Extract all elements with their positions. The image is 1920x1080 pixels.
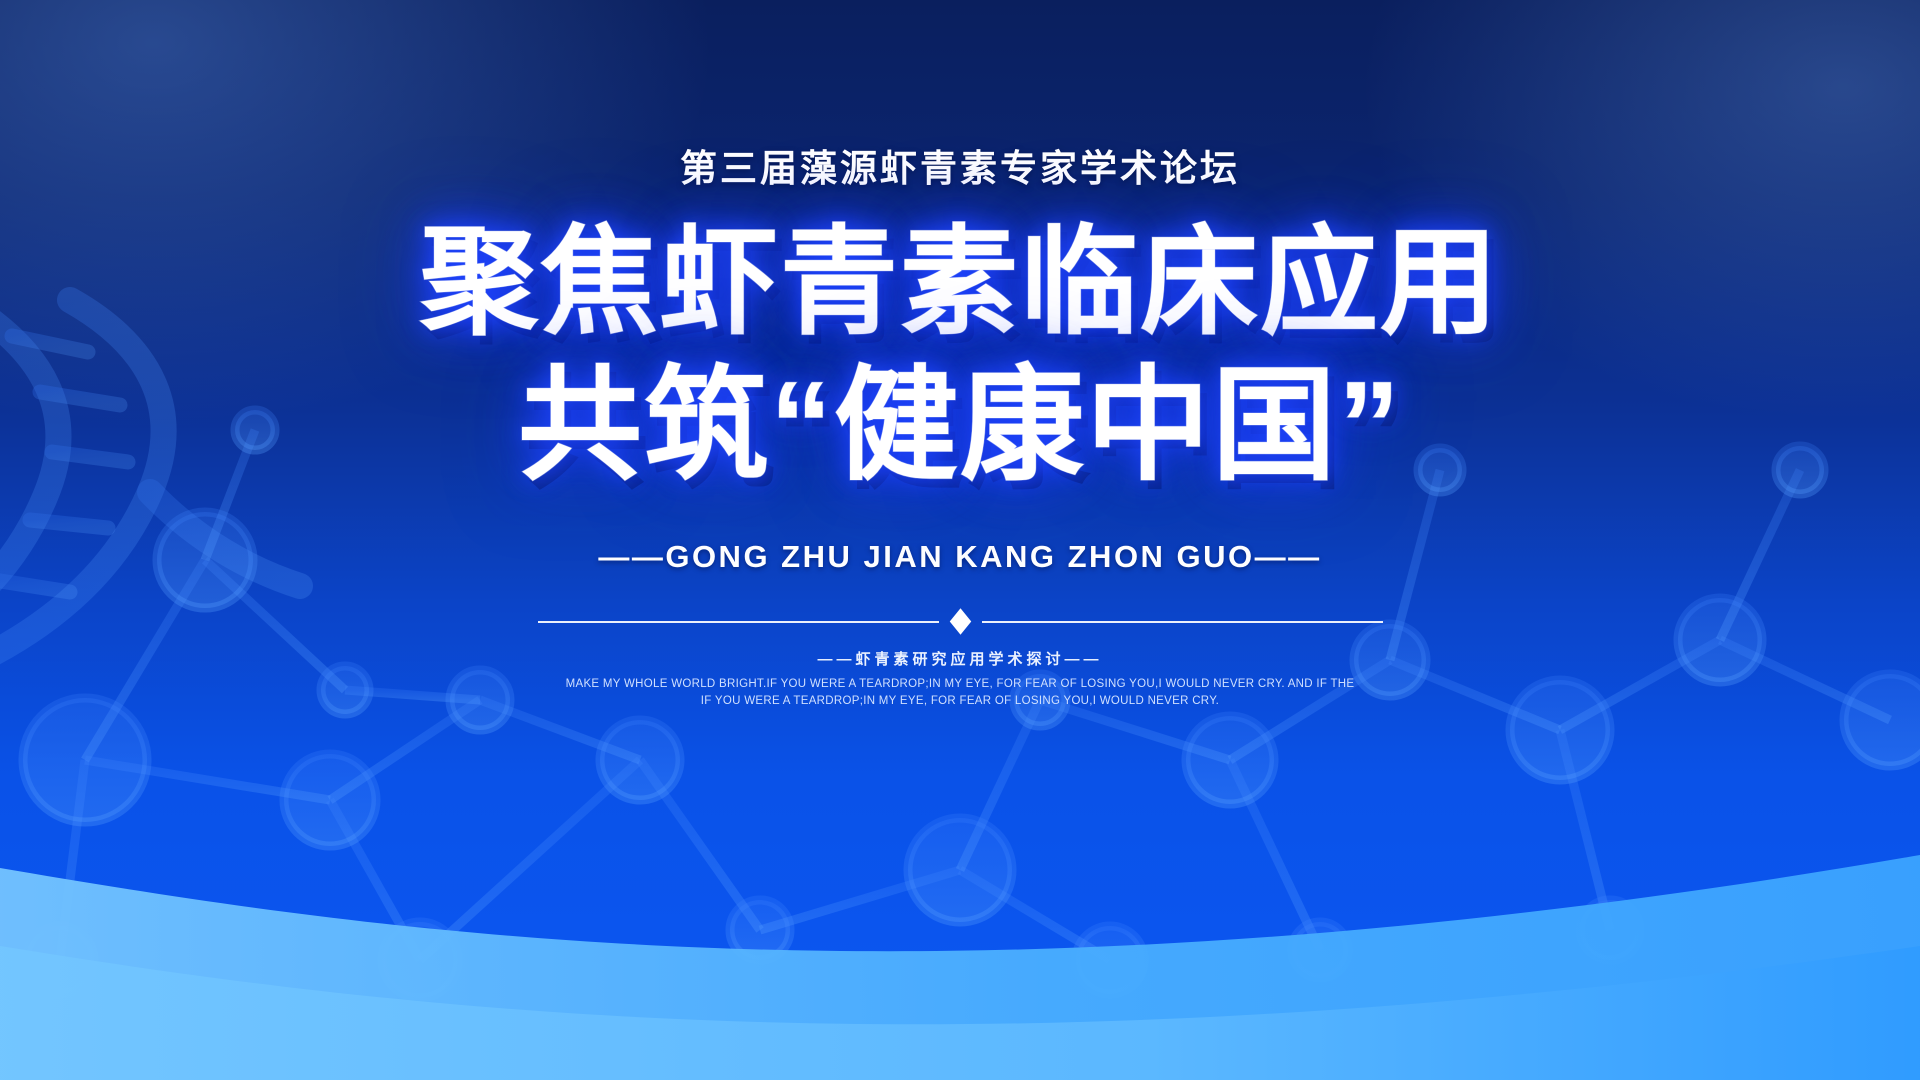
title-line-1: 聚焦虾青素临床应用 (420, 214, 1500, 352)
fineprint-line-2: IF YOU WERE A TEARDROP;IN MY EYE, FOR FE… (430, 693, 1490, 710)
divider-line-left (538, 621, 939, 623)
event-eyebrow: 第三届藻源虾青素专家学术论坛 (680, 138, 1240, 192)
fineprint-block: MAKE MY WHOLE WORLD BRIGHT.IF YOU WERE A… (430, 676, 1490, 711)
diamond-icon (949, 608, 971, 635)
fineprint-line-1: MAKE MY WHOLE WORLD BRIGHT.IF YOU WERE A… (430, 676, 1490, 693)
divider-line-right (982, 621, 1383, 623)
divider-rule (538, 613, 1383, 630)
sub-note: ——虾青素研究应用学术探讨—— (817, 648, 1102, 669)
title-line-2: 共筑“健康中国” (420, 354, 1500, 499)
poster-content: 第三届藻源虾青素专家学术论坛 聚焦虾青素临床应用 共筑“健康中国” ——GONG… (0, 0, 1920, 1080)
main-title: 聚焦虾青素临床应用 共筑“健康中国” (420, 214, 1500, 499)
title-pinyin: ——GONG ZHU JIAN KANG ZHON GUO—— (598, 539, 1321, 575)
poster-canvas: 第三届藻源虾青素专家学术论坛 聚焦虾青素临床应用 共筑“健康中国” ——GONG… (0, 0, 1920, 1080)
